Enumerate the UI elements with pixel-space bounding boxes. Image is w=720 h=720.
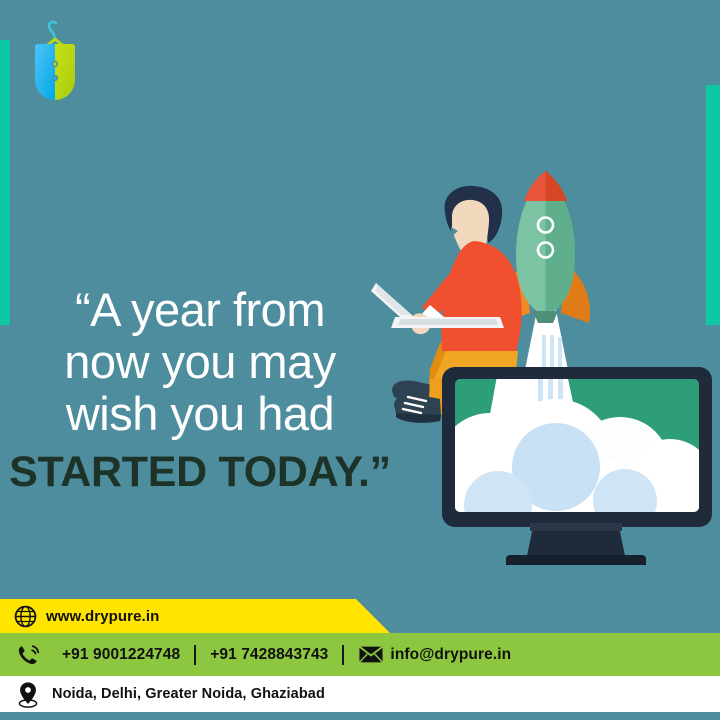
globe-icon: [8, 605, 42, 628]
illustration-man-rocket-monitor: [370, 165, 720, 565]
left-accent-bar: [0, 40, 10, 325]
footer-separator-1: [194, 645, 196, 665]
email-address[interactable]: info@drypure.in: [390, 646, 511, 664]
location-pin-icon: [10, 681, 46, 708]
phone-icon: [10, 642, 46, 668]
phone-number-1[interactable]: +91 9001224748: [62, 646, 180, 664]
quote-emphasis-line: STARTED TODAY.”: [0, 444, 400, 500]
website-url[interactable]: www.drypure.in: [46, 608, 159, 625]
phone-number-2[interactable]: +91 7428843743: [210, 646, 328, 664]
phone-email-band: +91 9001224748 +91 7428843743 info@drypu…: [0, 633, 720, 676]
quote-line-1: “A year from: [0, 284, 400, 336]
quote-line-3: wish you had: [0, 388, 400, 440]
envelope-icon: [358, 646, 384, 663]
address-band: Noida, Delhi, Greater Noida, Ghaziabad: [0, 676, 720, 712]
address-text: Noida, Delhi, Greater Noida, Ghaziabad: [52, 686, 325, 702]
quote-line-2: now you may: [0, 336, 400, 388]
drypure-logo[interactable]: [22, 18, 92, 106]
website-band: www.drypure.in: [0, 599, 390, 633]
quote-block: “A year from now you may wish you had ST…: [0, 284, 400, 500]
contact-footer: www.drypure.in +91 9001224748 +91 742884…: [0, 599, 720, 712]
poster-canvas: “A year from now you may wish you had ST…: [0, 0, 720, 720]
footer-separator-2: [342, 645, 344, 665]
